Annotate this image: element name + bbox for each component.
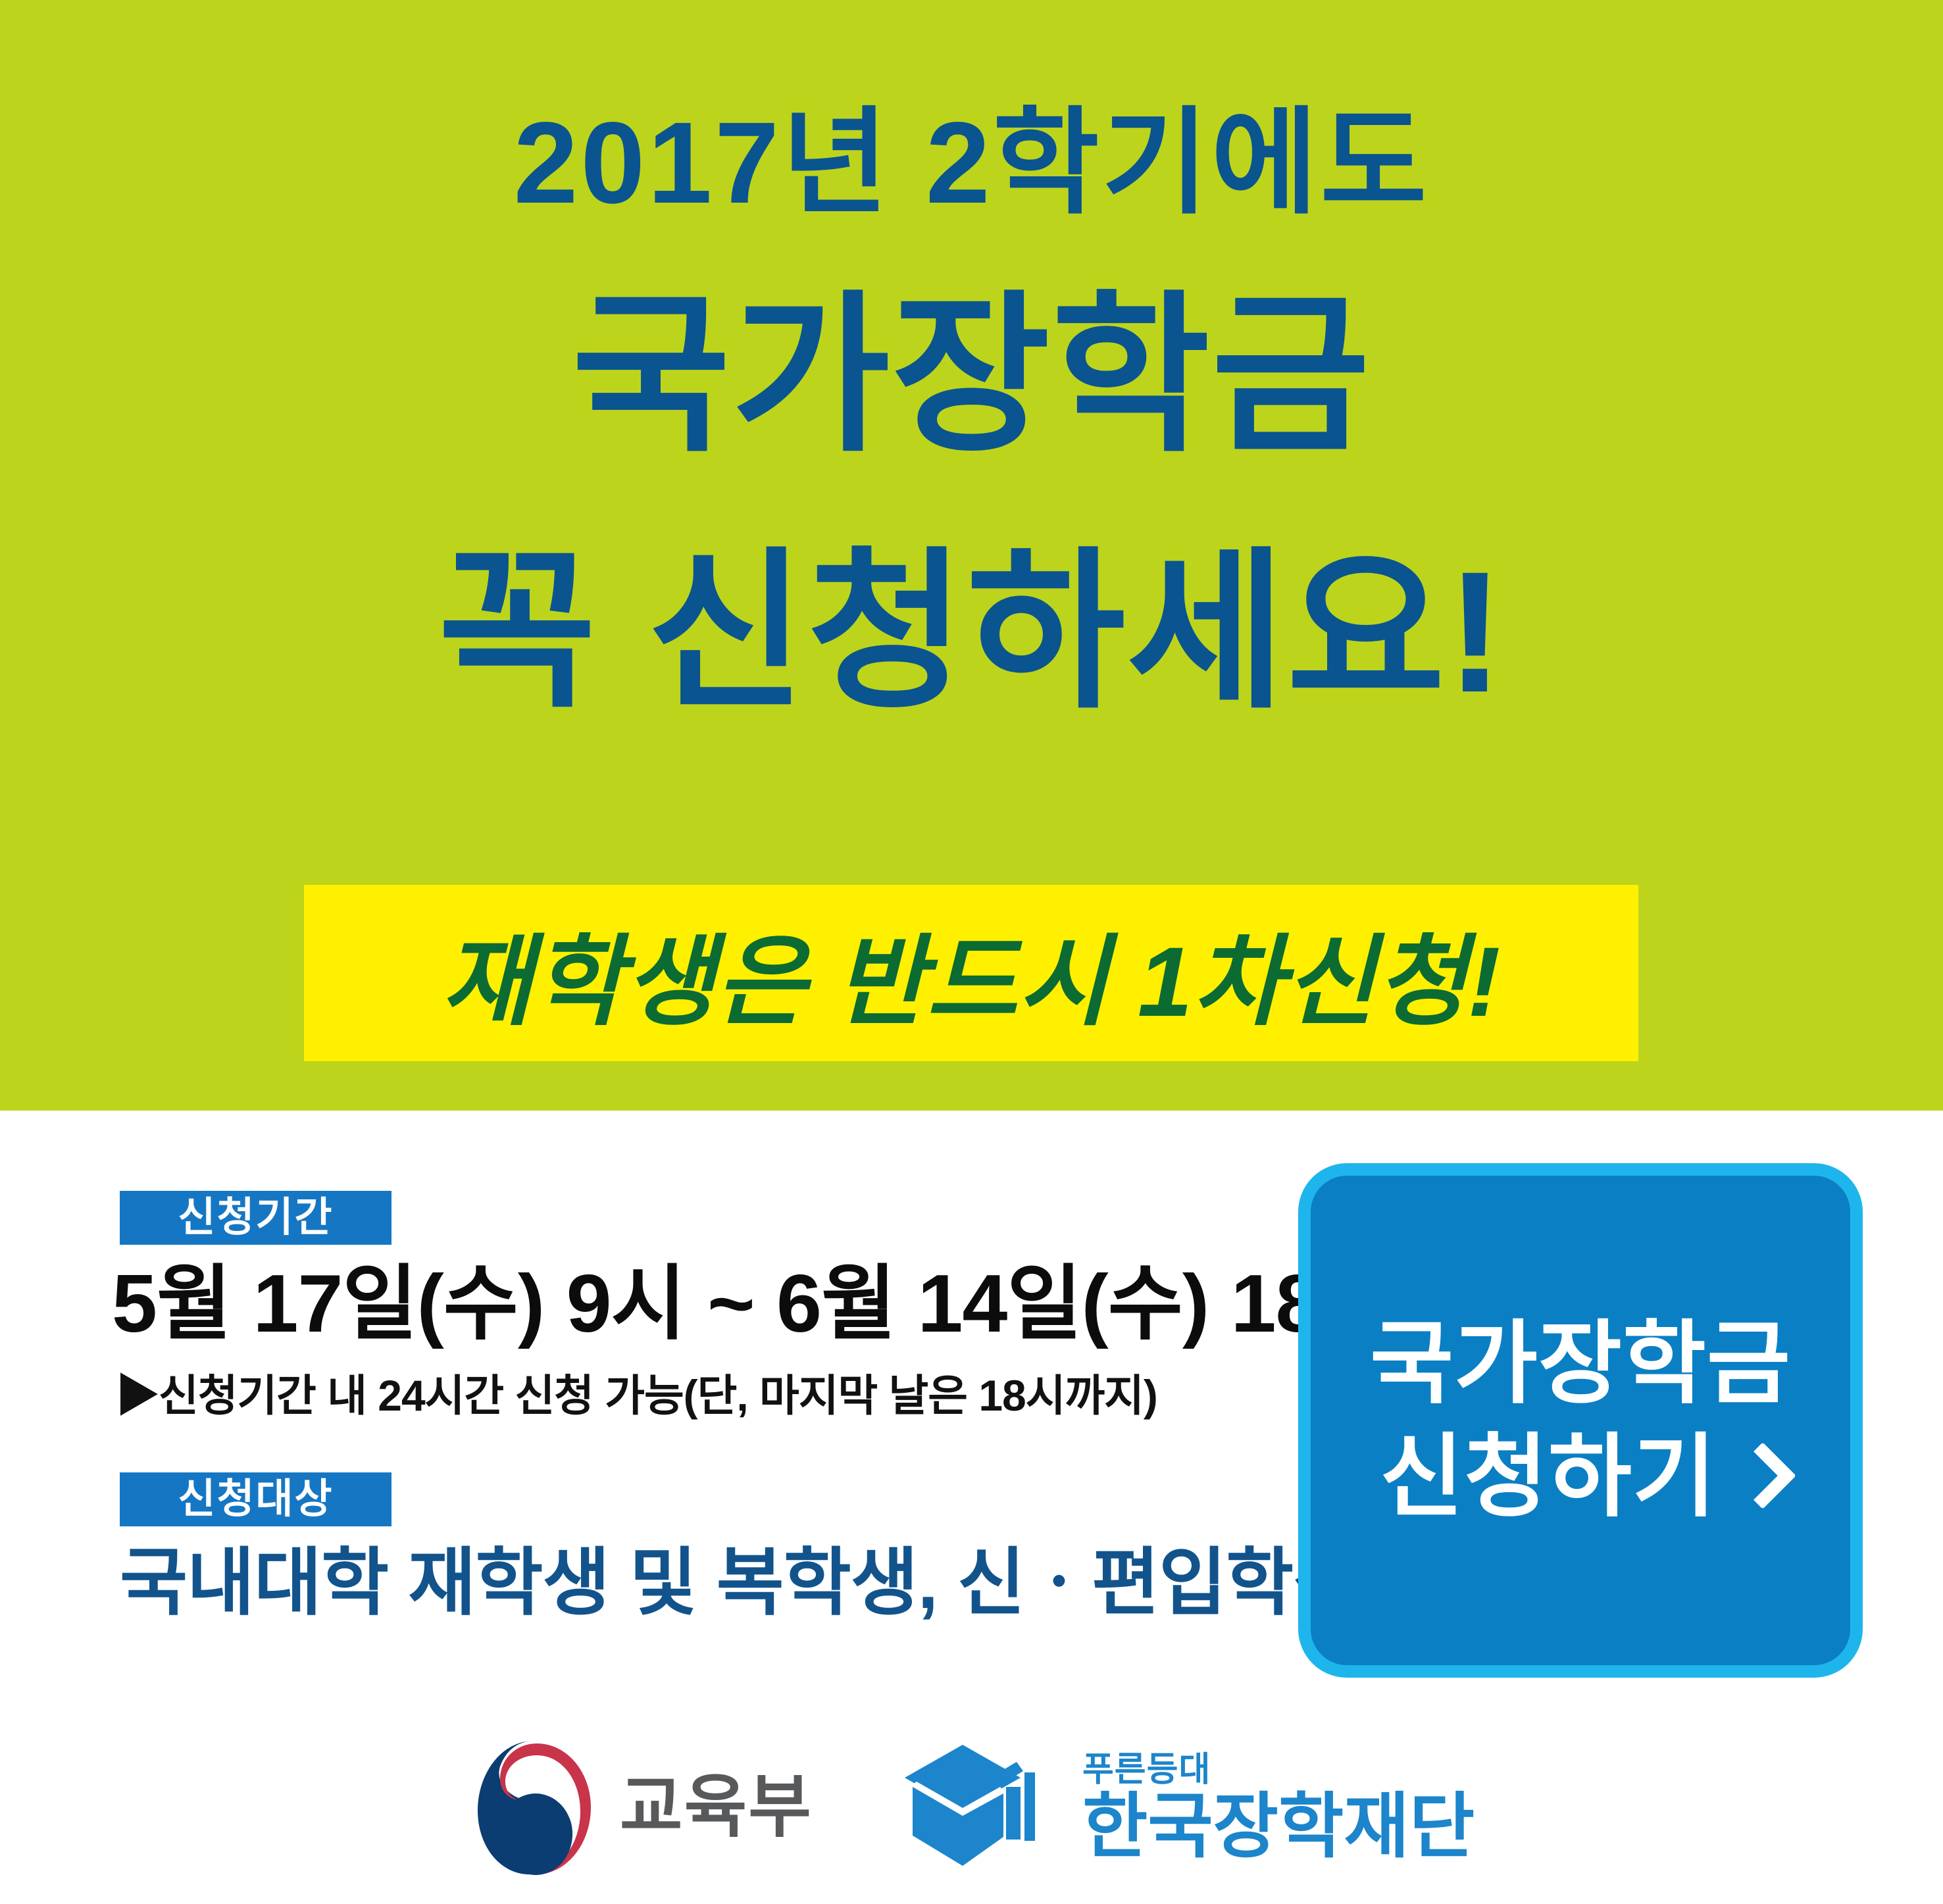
application-period-badge: 신청기간 — [120, 1191, 391, 1245]
highlight-callout-box: 재학생은 반드시 1차신청! — [304, 885, 1638, 1061]
ministry-of-education-name: 교육부 — [620, 1773, 813, 1841]
apply-scholarship-button[interactable]: 국가장학금 신청하기 — [1298, 1163, 1863, 1678]
hero-headline-line-2: 꼭 신청하세요! — [0, 546, 1943, 718]
hero-headline-line-1: 국가장학금 — [0, 289, 1943, 462]
kosaf-logo: 푸른등대 한국장학재단 — [898, 1737, 1475, 1878]
kosaf-sub-name: 푸른등대 — [1082, 1753, 1475, 1787]
graduation-cap-lighthouse-icon — [898, 1737, 1063, 1878]
application-target-badge: 신청대상 — [120, 1472, 391, 1526]
cta-label-line-1: 국가장학금 — [1370, 1307, 1791, 1421]
cta-label-line-2-row: 신청하기 — [1380, 1420, 1781, 1534]
application-period-note: ▶신청기간 내 24시간 신청 가능(단, 마지막 날은 18시까지) — [116, 1374, 1157, 1417]
hero-eyebrow-text: 2017년 2학기에도 — [0, 105, 1943, 221]
kosaf-wordmark: 푸른등대 한국장학재단 — [1082, 1753, 1475, 1862]
footer-logos: 교육부 푸른등대 한국장학재단 — [0, 1711, 1943, 1904]
kosaf-main-name: 한국장학재단 — [1082, 1791, 1475, 1862]
application-period-value: 5월 17일(수) 9시 ~ 6월 14일(수) 18시 — [112, 1263, 1395, 1345]
scholarship-promo-banner: 2017년 2학기에도 국가장학금 꼭 신청하세요! 재학생은 반드시 1차신청… — [0, 0, 1943, 1904]
application-target-value: 국내대학 재학생 및 복학생, 신ㆍ편입학생 — [120, 1546, 1360, 1620]
highlight-callout-text: 재학생은 반드시 1차신청! — [304, 885, 1638, 1061]
chevron-right-icon — [1734, 1440, 1781, 1514]
cta-label-line-2: 신청하기 — [1380, 1420, 1717, 1534]
ministry-of-education-logo: 교육부 — [468, 1737, 813, 1878]
korea-government-taegeuk-icon — [468, 1737, 600, 1878]
hero-section: 2017년 2학기에도 국가장학금 꼭 신청하세요! 재학생은 반드시 1차신청… — [0, 0, 1943, 1111]
